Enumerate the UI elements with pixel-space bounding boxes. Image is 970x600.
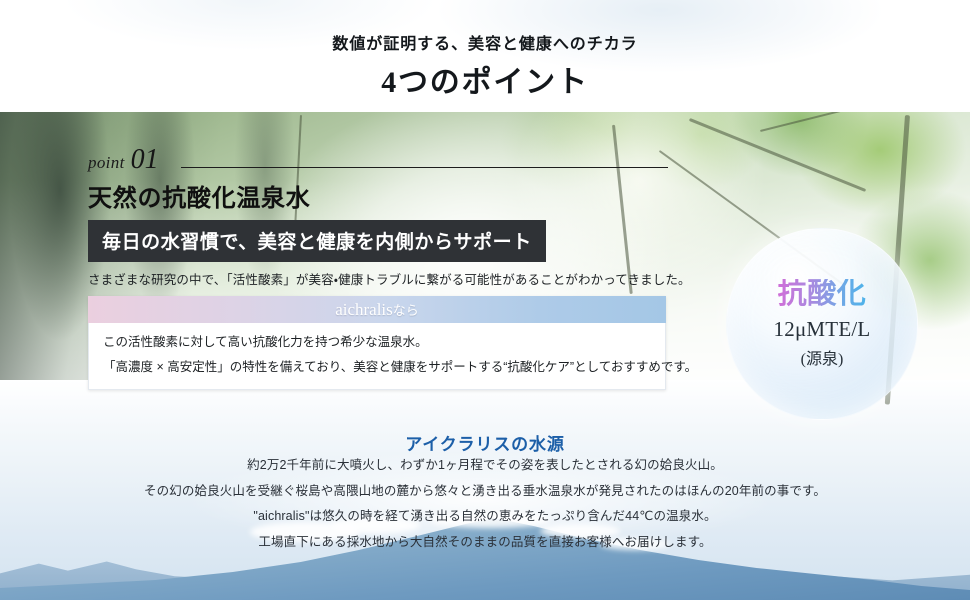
brand-callout-card: aichralisなら この活性酸素に対して高い抗酸化力を持つ希少な温泉水。 「…: [88, 296, 666, 390]
card-header: aichralisなら: [88, 296, 666, 323]
card-body: この活性酸素に対して高い抗酸化力を持つ希少な温泉水。 「高濃度 × 高安定性」の…: [88, 323, 666, 390]
card-line: この活性酸素に対して高い抗酸化力を持つ希少な温泉水。: [103, 334, 651, 350]
point-divider-rule: [181, 167, 668, 168]
card-brand-suffix: なら: [393, 303, 419, 318]
card-brand-name: aichralis: [335, 300, 393, 319]
point-number: 01: [131, 146, 159, 174]
bubble-title: 抗酸化: [778, 279, 867, 311]
point-label-row: point 01: [88, 146, 668, 175]
card-line: 「高濃度 × 高安定性」の特性を備えており、美容と健康をサポートする“抗酸化ケア…: [103, 359, 651, 375]
antioxidant-bubble-badge: 抗酸化 12μMTE/L (源泉): [726, 228, 918, 420]
source-line: "aichralis"は悠久の時を経て湧き出る自然の恵みをたっぷり含んだ44℃の…: [0, 509, 970, 525]
point-word-label: point: [88, 153, 125, 173]
bubble-note: (源泉): [801, 345, 844, 369]
point-heading: 天然の抗酸化温泉水: [88, 178, 310, 213]
header-subtitle: 数値が証明する、美容と健康へのチカラ: [0, 30, 970, 54]
bubble-value: 12μMTE/L: [774, 317, 871, 342]
water-source-heading: アイクラリスの水源: [0, 430, 970, 455]
page-title: 4つのポイント: [0, 57, 970, 101]
header-band: 数値が証明する、美容と健康へのチカラ 4つのポイント: [0, 0, 970, 112]
source-line: 工場直下にある採水地から大自然そのままの品質を直接お客様へお届けします。: [0, 535, 970, 551]
point-banner: 毎日の水習慣で、美容と健康を内側からサポート: [88, 220, 546, 262]
water-source-text: 約2万2千年前に大噴火し、わずか1ヶ月程でその姿を表したとされる幻の姶良火山。 …: [0, 458, 970, 561]
source-line: その幻の姶良火山を受継ぐ桜島や高隈山地の麓から悠々と湧き出る垂水温泉水が発見され…: [0, 484, 970, 500]
source-line: 約2万2千年前に大噴火し、わずか1ヶ月程でその姿を表したとされる幻の姶良火山。: [0, 458, 970, 474]
point-lead-text: さまざまな研究の中で、「活性酸素」が美容・健康トラブルに繋がる可能性があることが…: [88, 269, 691, 288]
page-root: 数値が証明する、美容と健康へのチカラ 4つのポイント point 01 天然の抗…: [0, 0, 970, 600]
